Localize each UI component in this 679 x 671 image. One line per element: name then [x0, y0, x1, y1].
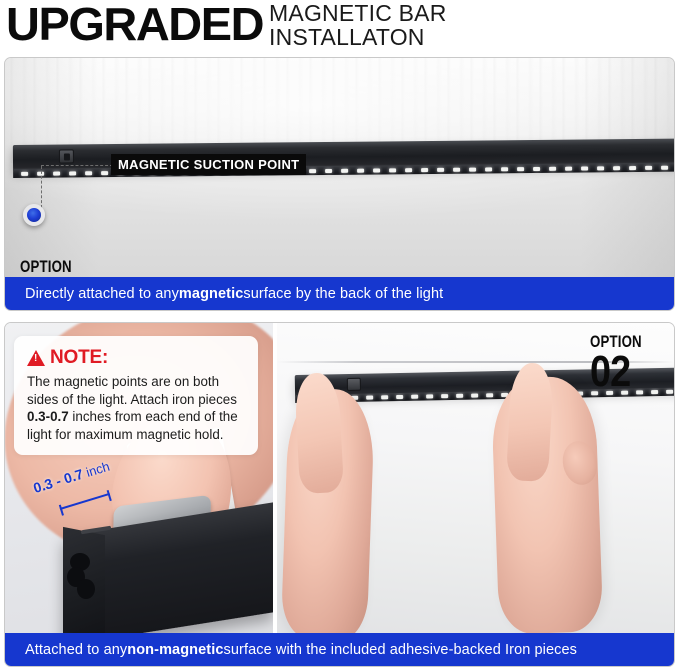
note-title: NOTE:: [50, 347, 108, 369]
caption-02-bold: non-magnetic: [127, 642, 223, 658]
note-line-5: magnetic hold.: [136, 427, 223, 442]
led-bar-switch: [347, 378, 361, 391]
page-title: UPGRADED: [6, 0, 263, 48]
led-bar-switch: [59, 149, 74, 163]
caption-02-before: Attached to any: [25, 642, 127, 658]
note-box: NOTE: The magnetic points are on both si…: [14, 336, 258, 455]
option-01-caption: Directly attached to any magnetic surfac…: [5, 277, 674, 311]
note-header: NOTE:: [27, 347, 246, 369]
caption-01-before: Directly attached to any: [25, 286, 179, 302]
note-line-3-before: pieces: [198, 392, 237, 407]
callout-leader-line-vertical: [41, 166, 42, 208]
option-02-number: 02: [590, 351, 647, 393]
caption-01-bold: magnetic: [179, 286, 243, 302]
page-subtitle: MAGNETIC BAR INSTALLATON: [269, 1, 446, 49]
option-01-photo: MAGNETIC SUCTION POINT OPTION 01: [5, 58, 674, 277]
caption-02-after: surface with the included adhesive-backe…: [224, 642, 578, 658]
option-01-badge: OPTION 01: [20, 258, 86, 277]
magnetic-suction-point-dot: [23, 204, 45, 226]
bar-mounting-photo: OPTION 02: [277, 323, 674, 633]
option-01-number: 01: [20, 276, 77, 277]
option-02-badge: OPTION 02: [590, 333, 656, 393]
note-text: The magnetic points are on both sides of…: [27, 373, 246, 443]
note-line-3-after: inches from each: [69, 409, 175, 424]
caption-01-after: surface by the back of the light: [243, 286, 443, 302]
callout-leader-line-horizontal: [41, 165, 113, 166]
warning-triangle-icon: [27, 350, 45, 366]
option-01-panel: MAGNETIC SUCTION POINT OPTION 01 Directl…: [4, 57, 675, 311]
led-bar-end-holes: [67, 553, 101, 605]
note-line-2: sides of the light. Attach iron: [27, 392, 194, 407]
magnetic-suction-point-label: MAGNETIC SUCTION POINT: [111, 154, 306, 175]
option-02-caption: Attached to any non-magnetic surface wit…: [5, 633, 674, 667]
header: UPGRADED MAGNETIC BAR INSTALLATON: [0, 0, 679, 56]
note-measure-bold: 0.3-0.7: [27, 409, 69, 424]
infographic-page: UPGRADED MAGNETIC BAR INSTALLATON: [0, 0, 679, 671]
note-line-1: The magnetic points are on both: [27, 374, 219, 389]
